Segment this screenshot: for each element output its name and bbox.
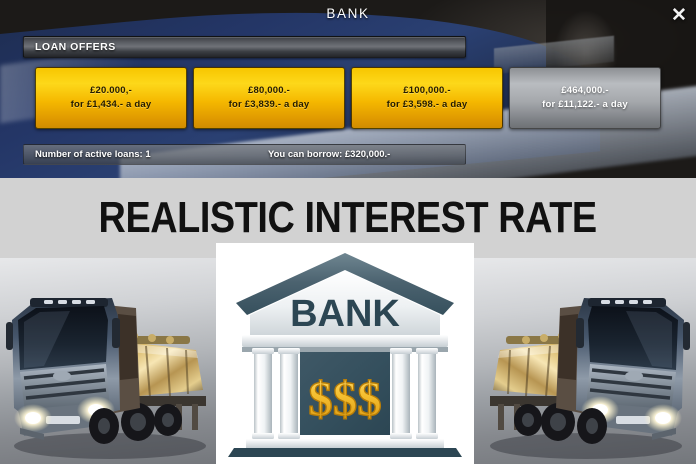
loan-offer-amount: £20.000,- [90, 84, 132, 98]
truck-photo-left [0, 258, 232, 464]
loan-offer-button-3[interactable]: £100,000.- for £3,598.- a day [351, 67, 503, 129]
loan-offers-header: LOAN OFFERS [23, 36, 466, 58]
close-icon[interactable]: ✕ [668, 5, 690, 27]
loan-offer-rate: for £3,598.- a day [387, 98, 468, 112]
banner-title: REALISTIC INTEREST RATE [99, 193, 597, 243]
truck-illustration-left [0, 258, 232, 464]
borrow-limit-text: You can borrow: £320,000.- [268, 149, 390, 160]
loan-offer-button-2[interactable]: £80,000.- for £3,839.- a day [193, 67, 345, 129]
bank-building-icon: BANK $$$ [216, 243, 474, 464]
truck-photo-right [464, 258, 696, 464]
loan-status-bar: Number of active loans: 1 You can borrow… [23, 144, 466, 165]
loan-offer-amount: £80,000.- [248, 84, 290, 98]
screenshot-root: BANK ✕ LOAN OFFERS £20.000,- for £1,434.… [0, 0, 696, 464]
game-bank-panel: BANK ✕ LOAN OFFERS £20.000,- for £1,434.… [0, 0, 696, 178]
panel-title: BANK [0, 6, 696, 21]
bank-entablature [242, 335, 448, 347]
bank-money-symbols: $$$ [308, 371, 382, 426]
truck-illustration-right [464, 258, 696, 464]
loan-offer-rate: for £3,839.- a day [229, 98, 310, 112]
loan-offer-amount: £464,000.- [561, 84, 608, 98]
bank-icon-card: BANK $$$ [216, 243, 474, 464]
bank-sign-text: BANK [290, 293, 400, 335]
bank-step-upper [246, 439, 444, 448]
loan-offer-rate: for £1,434.- a day [71, 98, 152, 112]
active-loans-text: Number of active loans: 1 [35, 149, 151, 160]
loan-offer-amount: £100,000.- [403, 84, 450, 98]
bank-base [228, 448, 462, 457]
loan-offers-list: £20.000,- for £1,434.- a day £80,000.- f… [35, 67, 661, 129]
loan-offer-button-1[interactable]: £20.000,- for £1,434.- a day [35, 67, 187, 129]
loan-offer-button-4-disabled: £464,000.- for £11,122.- a day [509, 67, 661, 129]
loan-offers-label: LOAN OFFERS [35, 41, 116, 53]
loan-offer-rate: for £11,122.- a day [542, 98, 628, 112]
